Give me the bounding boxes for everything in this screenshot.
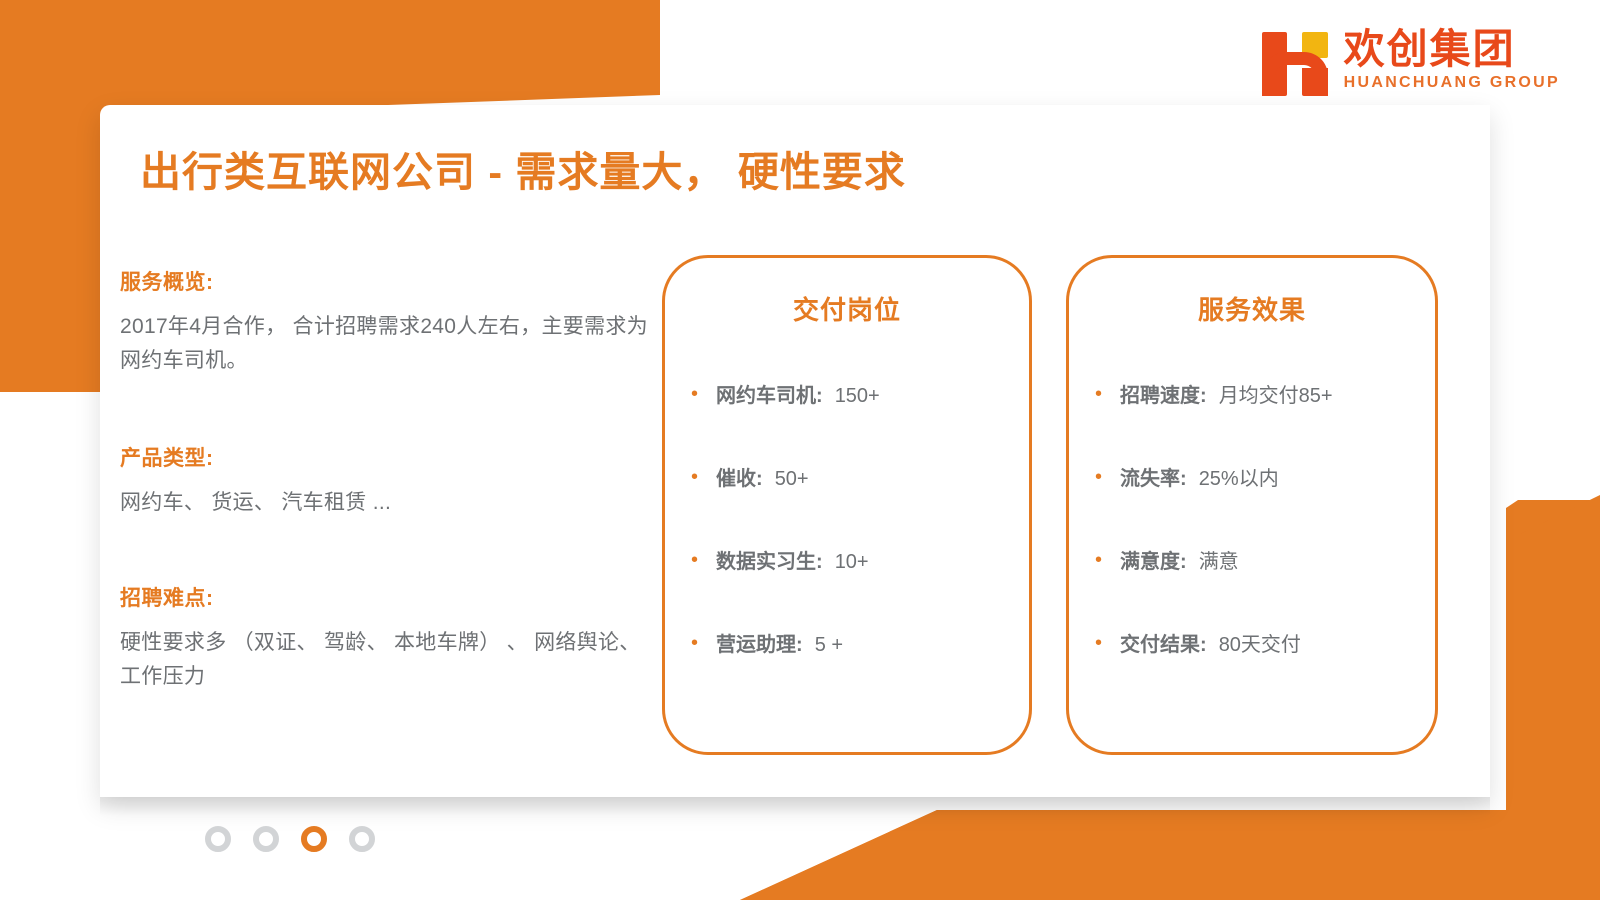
list-item-value: 50+ — [775, 468, 809, 491]
list-item-value: 满意 — [1199, 545, 1239, 574]
summary-heading: 产品类型: — [120, 442, 660, 472]
list-item-label: 网约车司机: — [716, 379, 823, 408]
brand-name-cn: 欢创集团 — [1344, 29, 1560, 70]
list-item-label: 交付结果: — [1120, 628, 1207, 657]
list-item: • 招聘速度: 月均交付85+ — [1069, 379, 1435, 408]
left-summary-column: 服务概览: 2017年4月合作， 合计招聘需求240人左右，主要需求为网约车司机… — [120, 266, 660, 722]
list-item-value: 月均交付85+ — [1219, 379, 1333, 408]
bullet-dot-icon: • — [691, 633, 698, 653]
page-title: 出行类互联网公司 - 需求量大， 硬性要求 — [140, 138, 906, 198]
list-item-label: 流失率: — [1120, 462, 1187, 491]
bullet-dot-icon: • — [691, 467, 698, 487]
list-item-label: 营运助理: — [716, 628, 803, 657]
info-card-service-results: 服务效果 • 招聘速度: 月均交付85+ • 流失率: 25%以内 • 满意度:… — [1066, 255, 1438, 755]
summary-body: 硬性要求多 （双证、 驾龄、 本地车牌） 、 网络舆论、 工作压力 — [120, 626, 660, 694]
bullet-dot-icon: • — [1095, 633, 1102, 653]
bullet-dot-icon: • — [691, 550, 698, 570]
summary-heading: 服务概览: — [120, 266, 660, 296]
bullet-dot-icon: • — [1095, 467, 1102, 487]
list-item: • 催收: 50+ — [665, 462, 1029, 491]
info-card-list: • 网约车司机: 150+ • 催收: 50+ • 数据实习生: 10+ • 营… — [665, 379, 1029, 657]
summary-block-product-type: 产品类型: 网约车、 货运、 汽车租赁 ... — [120, 442, 660, 520]
list-item-value: 10+ — [835, 551, 869, 574]
list-item-label: 满意度: — [1120, 545, 1187, 574]
info-card-delivered-positions: 交付岗位 • 网约车司机: 150+ • 催收: 50+ • 数据实习生: 10… — [662, 255, 1032, 755]
summary-block-recruiting-difficulty: 招聘难点: 硬性要求多 （双证、 驾龄、 本地车牌） 、 网络舆论、 工作压力 — [120, 582, 660, 694]
huanchuang-h-mark-icon — [1262, 24, 1328, 96]
bullet-dot-icon: • — [1095, 550, 1102, 570]
list-item-label: 招聘速度: — [1120, 379, 1207, 408]
list-item-value: 150+ — [835, 385, 880, 408]
slide-root: 欢创集团 HUANCHUANG GROUP 出行类互联网公司 - 需求量大， 硬… — [0, 0, 1600, 900]
decoration-bottom-strip-orange — [700, 810, 1600, 900]
info-card-title: 服务效果 — [1069, 290, 1435, 327]
pagination-dot-3[interactable] — [301, 826, 327, 852]
summary-body: 2017年4月合作， 合计招聘需求240人左右，主要需求为网约车司机。 — [120, 310, 660, 378]
brand-logo: 欢创集团 HUANCHUANG GROUP — [1262, 24, 1560, 96]
info-card-list: • 招聘速度: 月均交付85+ • 流失率: 25%以内 • 满意度: 满意 •… — [1069, 379, 1435, 657]
brand-name-block: 欢创集团 HUANCHUANG GROUP — [1344, 29, 1560, 91]
list-item-value: 5 + — [815, 634, 843, 657]
list-item: • 网约车司机: 150+ — [665, 379, 1029, 408]
logo-right-leg-shape — [1302, 68, 1328, 96]
list-item: • 营运助理: 5 + — [665, 628, 1029, 657]
summary-heading: 招聘难点: — [120, 582, 660, 612]
decoration-right-edge-orange — [1506, 495, 1600, 825]
pagination-dots[interactable] — [205, 826, 375, 852]
bullet-dot-icon: • — [691, 384, 698, 404]
list-item: • 交付结果: 80天交付 — [1069, 628, 1435, 657]
bullet-dot-icon: • — [1095, 384, 1102, 404]
list-item-label: 数据实习生: — [716, 545, 823, 574]
list-item-value: 25%以内 — [1199, 462, 1279, 491]
pagination-dot-1[interactable] — [205, 826, 231, 852]
list-item: • 流失率: 25%以内 — [1069, 462, 1435, 491]
list-item: • 满意度: 满意 — [1069, 545, 1435, 574]
pagination-dot-4[interactable] — [349, 826, 375, 852]
summary-body: 网约车、 货运、 汽车租赁 ... — [120, 486, 660, 520]
pagination-dot-2[interactable] — [253, 826, 279, 852]
summary-block-service-overview: 服务概览: 2017年4月合作， 合计招聘需求240人左右，主要需求为网约车司机… — [120, 266, 660, 378]
brand-name-en: HUANCHUANG GROUP — [1344, 75, 1560, 91]
list-item-label: 催收: — [716, 462, 763, 491]
list-item: • 数据实习生: 10+ — [665, 545, 1029, 574]
info-card-title: 交付岗位 — [665, 290, 1029, 327]
list-item-value: 80天交付 — [1219, 628, 1301, 657]
